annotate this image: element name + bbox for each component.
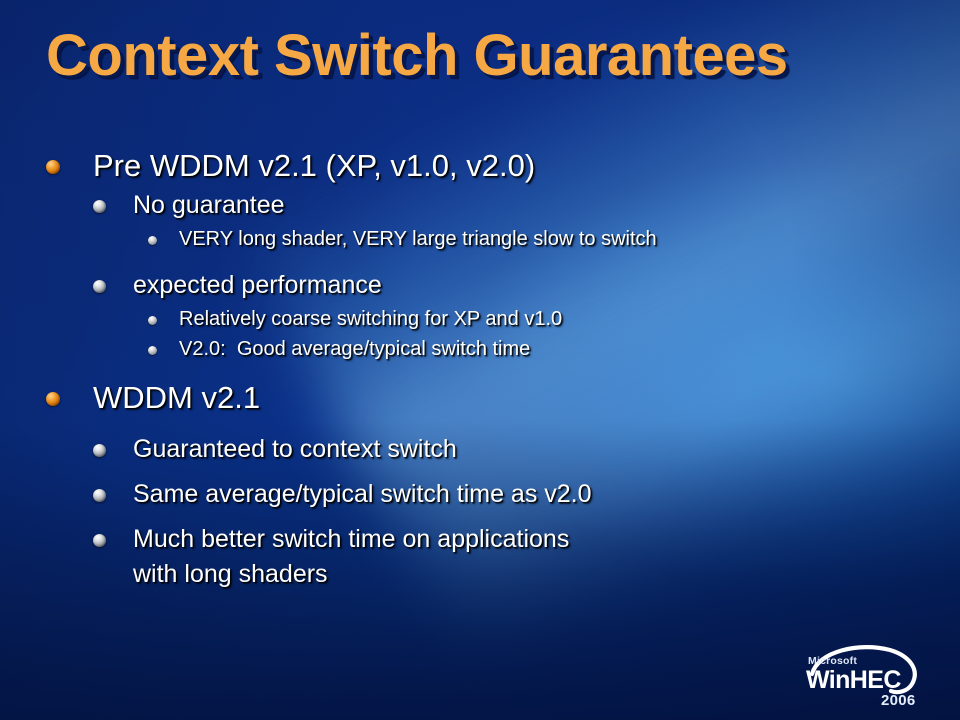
silver-sphere-bullet-icon xyxy=(93,534,106,547)
bullet-item-level3: VERY long shader, VERY large triangle sl… xyxy=(46,225,926,254)
orange-sphere-bullet-icon xyxy=(46,160,60,174)
bullet-text: Same average/typical switch time as v2.0 xyxy=(133,477,592,512)
bullet-text: expected performance xyxy=(133,268,382,303)
silver-sphere-bullet-small-icon xyxy=(148,316,157,325)
bullet-item-level3: V2.0: Good average/typical switch time xyxy=(46,335,926,364)
slide-body-content: Pre WDDM v2.1 (XP, v1.0, v2.0) No guaran… xyxy=(46,146,926,594)
bullet-item-level2: Same average/typical switch time as v2.0 xyxy=(46,477,926,512)
logo-year-text: 2006 xyxy=(881,692,916,709)
bullet-text: WDDM v2.1 xyxy=(93,378,260,418)
bullet-item-level2: Guaranteed to context switch xyxy=(46,432,926,467)
bullet-text: V2.0: Good average/typical switch time xyxy=(179,335,530,364)
bullet-item-level2: Much better switch time on applications … xyxy=(46,522,926,592)
orange-sphere-bullet-icon xyxy=(46,392,60,406)
silver-sphere-bullet-icon xyxy=(93,200,106,213)
bullet-item-level1: Pre WDDM v2.1 (XP, v1.0, v2.0) xyxy=(46,146,926,186)
bullet-item-level1: WDDM v2.1 xyxy=(46,378,926,418)
silver-sphere-bullet-icon xyxy=(93,444,106,457)
winhec-logo-graphic: Microsoft WinHEC 2006 xyxy=(798,640,946,712)
silver-sphere-bullet-icon xyxy=(93,489,106,502)
bullet-item-level2: No guarantee xyxy=(46,188,926,223)
bullet-item-level2: expected performance xyxy=(46,268,926,303)
bullet-item-level3: Relatively coarse switching for XP and v… xyxy=(46,305,926,334)
slide-title: Context Switch Guarantees xyxy=(46,26,926,87)
silver-sphere-bullet-icon xyxy=(93,280,106,293)
bullet-text: No guarantee xyxy=(133,188,285,223)
bullet-text: Relatively coarse switching for XP and v… xyxy=(179,305,562,334)
logo-name-text: WinHEC xyxy=(806,666,901,694)
silver-sphere-bullet-small-icon xyxy=(148,236,157,245)
silver-sphere-bullet-small-icon xyxy=(148,346,157,355)
bullet-text: Much better switch time on applications … xyxy=(133,522,569,592)
bullet-text: Guaranteed to context switch xyxy=(133,432,457,467)
bullet-text: Pre WDDM v2.1 (XP, v1.0, v2.0) xyxy=(93,146,535,186)
bullet-text: VERY long shader, VERY large triangle sl… xyxy=(179,225,657,254)
winhec-logo: Microsoft WinHEC 2006 xyxy=(798,640,946,712)
presentation-slide: Context Switch Guarantees Pre WDDM v2.1 … xyxy=(0,0,960,720)
